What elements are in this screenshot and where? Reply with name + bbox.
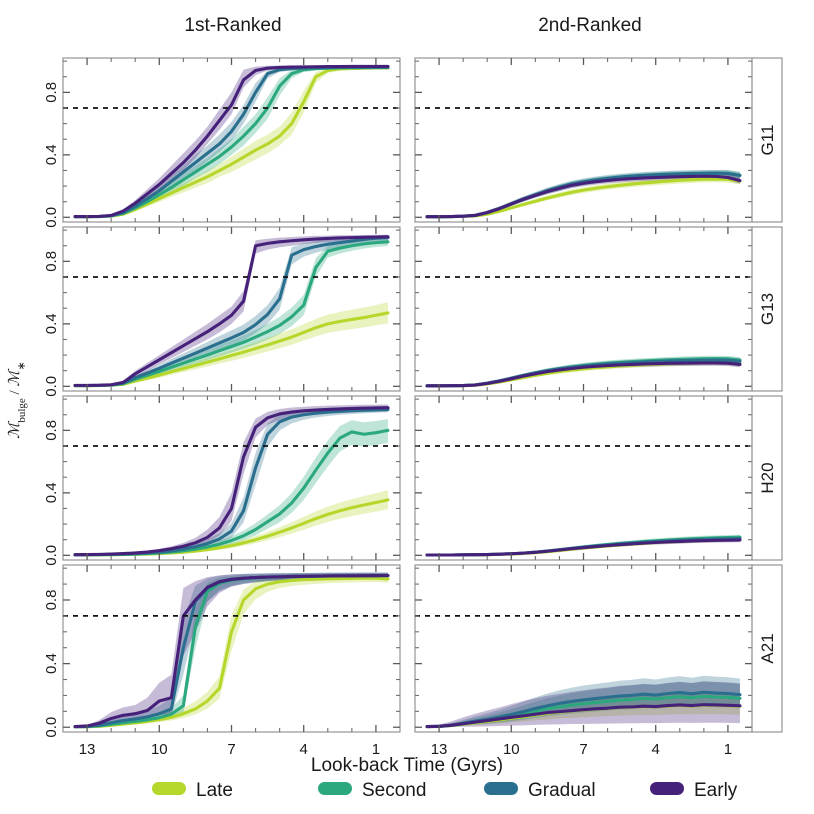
y-tick-label: 0.0 [43, 545, 60, 566]
legend-item-second[interactable]: Second [318, 780, 426, 801]
legend-label: Late [196, 780, 233, 801]
y-tick-label: 0.0 [43, 717, 60, 738]
legend-swatch [650, 782, 684, 795]
confidence-band-early [75, 235, 388, 386]
y-tick-label: 0.0 [43, 376, 60, 397]
row-label-g11: G11 [758, 125, 777, 156]
y-tick-label: 0.4 [43, 144, 60, 165]
x-tick-label: 4 [652, 741, 660, 758]
multi-panel-plot: 1st-Ranked 2nd-Ranked ℳbulge / ℳ∗ 0.00.4… [0, 0, 814, 814]
y-tick-label: 0.8 [43, 251, 60, 272]
series-line-late [75, 578, 388, 727]
svg-text:ℳbulge / ℳ∗: ℳbulge / ℳ∗ [7, 361, 28, 438]
legend-item-early[interactable]: Early [650, 780, 738, 801]
panels-layer: 0.00.40.8G110.00.40.8G130.00.40.8H200.00… [43, 58, 782, 758]
y-tick-label: 0.4 [43, 653, 60, 674]
x-tick-label: 7 [227, 741, 235, 758]
panel-g11-col2: G11 [415, 58, 782, 222]
y-tick-label: 0.8 [43, 420, 60, 441]
series-line-second [75, 576, 388, 727]
row-label-h20: H20 [758, 462, 777, 493]
legend-label: Second [362, 780, 426, 801]
x-axis-title: Look-back Time (Gyrs) [311, 755, 503, 776]
panel-g11-col1: 0.00.40.8 [43, 58, 400, 228]
series-line-gradual [75, 576, 388, 727]
y-axis-sub-2: ∗ [16, 361, 28, 370]
x-tick-label: 7 [579, 741, 587, 758]
series-line-early [427, 363, 740, 386]
confidence-band-second [75, 66, 388, 217]
x-tick-label: 13 [79, 741, 96, 758]
figure-root: 1st-Ranked 2nd-Ranked ℳbulge / ℳ∗ 0.00.4… [0, 0, 814, 814]
panel-h20-col2: H20 [415, 396, 782, 560]
y-tick-label: 0.8 [43, 82, 60, 103]
legend-label: Early [694, 780, 738, 801]
confidence-band-late [75, 574, 388, 727]
panel-frame [415, 58, 752, 222]
panel-g13-col1: 0.00.40.8 [43, 227, 400, 397]
legend-swatch [484, 782, 518, 795]
panel-h20-col1: 0.00.40.8 [43, 396, 400, 566]
panel-g13-col2: G13 [415, 227, 782, 391]
x-tick-label: 4 [300, 741, 308, 758]
x-tick-label: 1 [724, 741, 732, 758]
legend-swatch [318, 782, 352, 795]
x-tick-label: 10 [151, 741, 168, 758]
y-axis-sub-1: bulge [16, 398, 28, 423]
panel-a21-col1: 0.00.40.81310741 [43, 565, 400, 758]
legend-item-gradual[interactable]: Gradual [484, 780, 596, 801]
row-label-a21: A21 [758, 633, 777, 663]
legend-swatch [152, 782, 186, 795]
legend-item-late[interactable]: Late [152, 780, 233, 801]
y-tick-label: 0.4 [43, 313, 60, 334]
y-tick-label: 0.8 [43, 590, 60, 611]
series-line-early [427, 540, 740, 555]
panel-frame [415, 396, 752, 560]
panel-a21-col2: 1310741A21 [415, 565, 782, 758]
series-line-early [75, 576, 388, 727]
y-tick-label: 0.4 [43, 482, 60, 503]
column-title-1st-ranked: 1st-Ranked [184, 15, 281, 36]
y-axis-label: ℳbulge / ℳ∗ [7, 361, 28, 438]
row-label-g13: G13 [758, 293, 777, 325]
y-tick-label: 0.0 [43, 207, 60, 228]
x-tick-label: 10 [503, 741, 520, 758]
legend-label: Gradual [528, 780, 596, 801]
legend: LateSecondGradualEarly [152, 780, 738, 801]
column-title-2nd-ranked: 2nd-Ranked [538, 15, 642, 36]
